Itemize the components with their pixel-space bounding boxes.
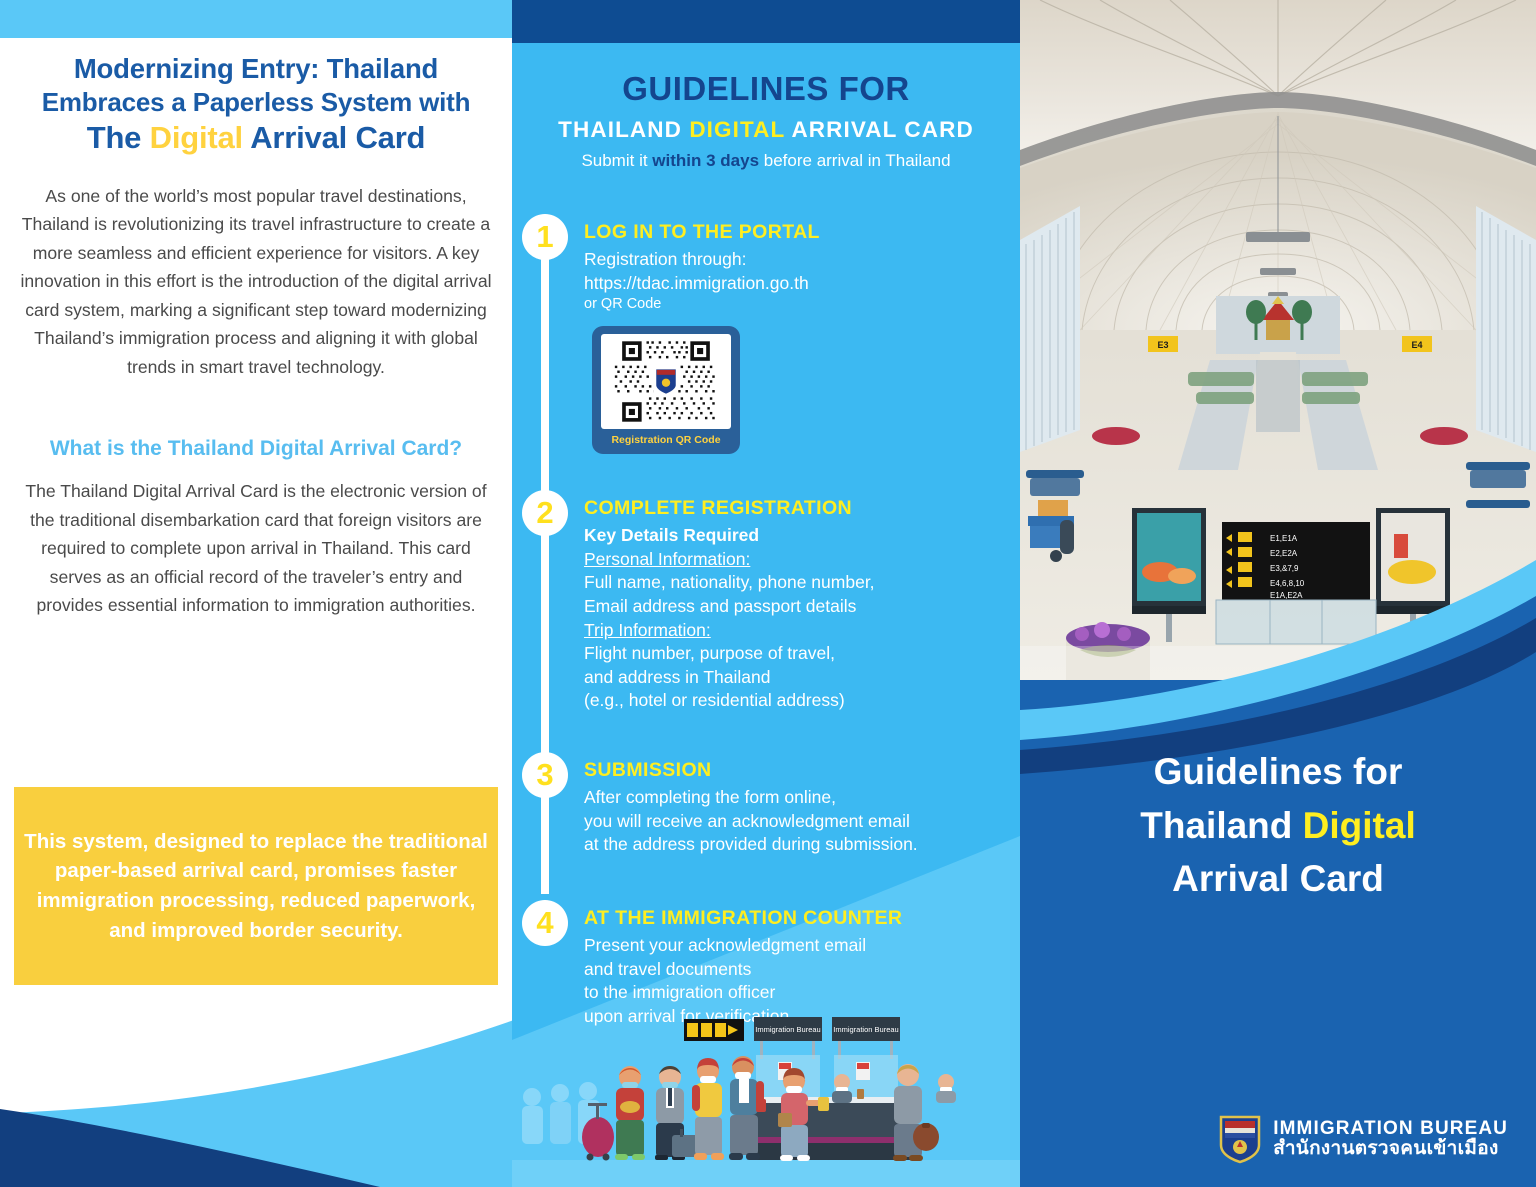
step4-line-2: and travel documents [584,958,1020,982]
qr-code-image [601,334,731,429]
step1-qr-note: or QR Code [584,295,1020,315]
left-top-band [0,0,512,38]
highlight-callout-box: This system, designed to replace the tra… [14,787,498,985]
right-panel: E3 E4 [1020,0,1536,1187]
step4-line-1: Present your acknowledgment email [584,934,1020,958]
bureau-name-english: IMMIGRATION BUREAU [1273,1119,1508,1139]
step-item-1: 1 LOG IN TO THE PORTAL Registration thro… [512,214,1020,490]
title-line-3: The Digital Arrival Card [14,119,498,157]
page-title: Modernizing Entry: Thailand Embraces a P… [14,52,498,158]
title-line-3-post: Arrival Card [243,120,425,155]
step-body-1: Registration through: https://tdac.immig… [584,248,1020,315]
step-number-badge-4: 4 [522,900,568,946]
guidelines-heading-line-1: GUIDELINES FOR [512,70,1020,108]
svg-text:E1,E1A: E1,E1A [1270,534,1298,543]
middle-panel: GUIDELINES FOR THAILAND DIGITAL ARRIVAL … [512,0,1020,1187]
step4-line-3: to the immigration officer [584,981,1020,1005]
step2-trip-line-3: (e.g., hotel or residential address) [584,689,1020,713]
brochure-page: Modernizing Entry: Thailand Embraces a P… [0,0,1536,1187]
step2-key-details-label: Key Details Required [584,524,1020,548]
step2-trip-line-1: Flight number, purpose of travel, [584,642,1020,666]
svg-text:E2,E2A: E2,E2A [1270,549,1298,558]
step-body-3: After completing the form online, you wi… [584,786,1020,857]
shield-logo-icon [654,365,678,394]
middle-content: GUIDELINES FOR THAILAND DIGITAL ARRIVAL … [512,0,1020,1187]
cover-title-line-2: Thailand Digital [1040,799,1516,853]
immigration-queue-illustration: Immigration Bureau Immigration Bureau [512,1005,1020,1187]
step1-line-1: Registration through: [584,248,1020,272]
step-number-badge-2: 2 [522,490,568,536]
svg-text:Immigration Bureau: Immigration Bureau [755,1025,820,1034]
step2-personal-line-2: Email address and passport details [584,595,1020,619]
traveler-figure [655,1066,698,1160]
step-number-badge-3: 3 [522,752,568,798]
counter-sign-2: Immigration Bureau [832,1017,900,1041]
counter-sign-1: Immigration Bureau [754,1017,822,1041]
qr-code-svg [601,334,731,429]
step-item-3: 3 SUBMISSION After completing the form o… [512,752,1020,882]
step2-personal-line-1: Full name, nationality, phone number, [584,571,1020,595]
step-title-4: AT THE IMMIGRATION COUNTER [584,900,1020,930]
shield-badge-icon [1217,1113,1263,1165]
step-connector-1-2 [541,254,549,512]
heading2-highlight: DIGITAL [689,117,785,142]
left-bottom-waves [0,997,512,1187]
left-panel: Modernizing Entry: Thailand Embraces a P… [0,0,512,1187]
step2-group-label-trip: Trip Information: [584,619,1020,643]
step3-line-1: After completing the form online, [584,786,1020,810]
subtitle-pre: Submit it [581,151,652,170]
immigration-officer [936,1074,956,1103]
cover-title-line-3: Arrival Card [1040,852,1516,906]
svg-text:E3: E3 [1157,340,1168,350]
steps-list: 1 LOG IN TO THE PORTAL Registration thro… [512,214,1020,1030]
svg-text:Immigration Bureau: Immigration Bureau [833,1025,898,1034]
guidelines-header: GUIDELINES FOR THAILAND DIGITAL ARRIVAL … [512,70,1020,171]
title-line-1: Modernizing Entry: Thailand [14,52,498,86]
title-line-3-highlight: Digital [150,120,243,155]
gate-label-e3: E3 [1148,336,1178,352]
traveler-at-counter [893,1064,939,1161]
intro-paragraph: As one of the world’s most popular trave… [14,182,498,382]
step-number-badge-1: 1 [522,214,568,260]
step3-line-3: at the address provided during submissio… [584,833,1020,857]
step-item-2: 2 COMPLETE REGISTRATION Key Details Requ… [512,490,1020,732]
heading2-pre: THAILAND [558,117,689,142]
gate-label-e4: E4 [1402,336,1432,352]
step-body-2: Key Details Required Personal Informatio… [584,524,1020,713]
cover-title-line-1: Guidelines for [1040,745,1516,799]
bureau-name-thai: สำนักงานตรวจคนเข้าเมือง [1273,1139,1508,1159]
step-title-3: SUBMISSION [584,752,1020,782]
step-title-1: LOG IN TO THE PORTAL [584,214,1020,244]
left-content: Modernizing Entry: Thailand Embraces a P… [0,52,512,620]
airport-direction-sign-icon [684,1019,744,1041]
heading2-post: ARRIVAL CARD [785,117,974,142]
what-is-paragraph: The Thailand Digital Arrival Card is the… [14,477,498,620]
svg-text:E4: E4 [1411,340,1422,350]
traveler-figure [692,1058,724,1160]
cover-title-highlight: Digital [1303,805,1416,846]
title-line-2: Embraces a Paperless System with [14,86,498,118]
registration-qr-card[interactable]: Registration QR Code [592,326,740,454]
step2-trip-line-2: and address in Thailand [584,666,1020,690]
step-title-2: COMPLETE REGISTRATION [584,490,1020,520]
subtitle-post: before arrival in Thailand [759,151,951,170]
cover-title-pre: Thailand [1140,805,1302,846]
step1-registration-url[interactable]: https://tdac.immigration.go.th [584,272,1020,296]
step3-line-2: you will receive an acknowledgment email [584,810,1020,834]
qr-card-label: Registration QR Code [611,434,720,446]
title-line-3-pre: The [87,120,150,155]
immigration-bureau-logo: IMMIGRATION BUREAU สำนักงานตรวจคนเข้าเมื… [1217,1113,1508,1165]
step2-group-label-personal: Personal Information: [584,548,1020,572]
step-connector-2-3 [541,530,549,754]
bureau-logo-text: IMMIGRATION BUREAU สำนักงานตรวจคนเข้าเมื… [1273,1119,1508,1159]
section-heading-what-is: What is the Thailand Digital Arrival Car… [14,437,498,461]
callout-text: This system, designed to replace the tra… [14,827,498,945]
guidelines-subtitle: Submit it within 3 days before arrival i… [512,151,1020,171]
cover-title: Guidelines for Thailand Digital Arrival … [1020,745,1536,906]
subtitle-bold: within 3 days [652,151,759,170]
guidelines-heading-line-2: THAILAND DIGITAL ARRIVAL CARD [512,117,1020,143]
